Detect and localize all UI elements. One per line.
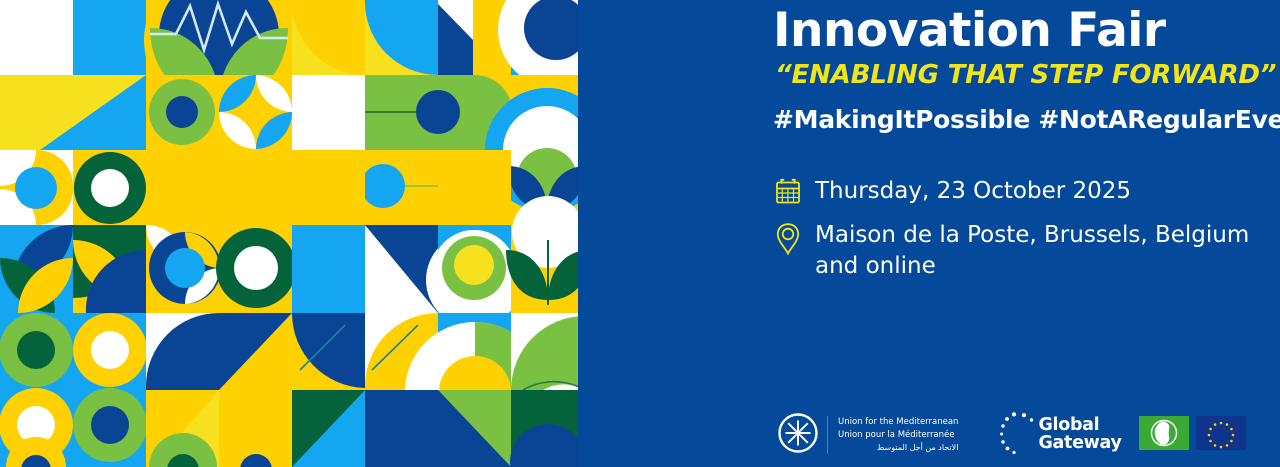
ufm-name-ar: الاتحاد من أجل المتوسط bbox=[838, 442, 958, 454]
global-gateway-logo: Global Gateway bbox=[1000, 411, 1245, 459]
banner-content: Innovation Fair “ENABLING THAT STEP FORW… bbox=[770, 0, 1280, 467]
geometric-pattern-art bbox=[0, 0, 585, 467]
event-location-row: Maison de la Poste, Brussels, Belgium an… bbox=[775, 220, 1275, 281]
ufm-emblem-icon bbox=[778, 413, 818, 457]
partner-flags bbox=[1132, 416, 1246, 454]
ufm-name-fr: Union pour la Méditerranée bbox=[838, 429, 958, 442]
logo-strip: Union for the Mediterranean Union pour l… bbox=[778, 411, 1246, 459]
event-date-row: Thursday, 23 October 2025 bbox=[775, 176, 1275, 206]
ufm-logo: Union for the Mediterranean Union pour l… bbox=[778, 413, 958, 457]
global-gateway-stars-icon bbox=[1000, 411, 1034, 459]
event-date: Thursday, 23 October 2025 bbox=[815, 176, 1131, 206]
african-union-flag-icon bbox=[1139, 416, 1189, 454]
ufm-name-en: Union for the Mediterranean bbox=[838, 416, 958, 429]
european-union-flag-icon bbox=[1196, 416, 1246, 454]
map-pin-icon bbox=[775, 220, 815, 256]
global-gateway-line2: Gateway bbox=[1038, 435, 1121, 453]
pattern-svg bbox=[0, 0, 585, 467]
ufm-wordmark: Union for the Mediterranean Union pour l… bbox=[827, 416, 958, 455]
page-title: Innovation Fair bbox=[773, 6, 1166, 55]
global-gateway-wordmark: Global Gateway bbox=[1038, 417, 1121, 453]
event-hashtags: #MakingItPossible #NotARegularEvent bbox=[773, 105, 1280, 134]
event-banner: Innovation Fair “ENABLING THAT STEP FORW… bbox=[0, 0, 1280, 467]
calendar-icon bbox=[775, 176, 815, 205]
event-details: Thursday, 23 October 2025 Maison de la P… bbox=[775, 176, 1275, 295]
event-tagline: “ENABLING THAT STEP FORWARD” bbox=[775, 60, 1276, 90]
event-location: Maison de la Poste, Brussels, Belgium an… bbox=[815, 220, 1275, 281]
